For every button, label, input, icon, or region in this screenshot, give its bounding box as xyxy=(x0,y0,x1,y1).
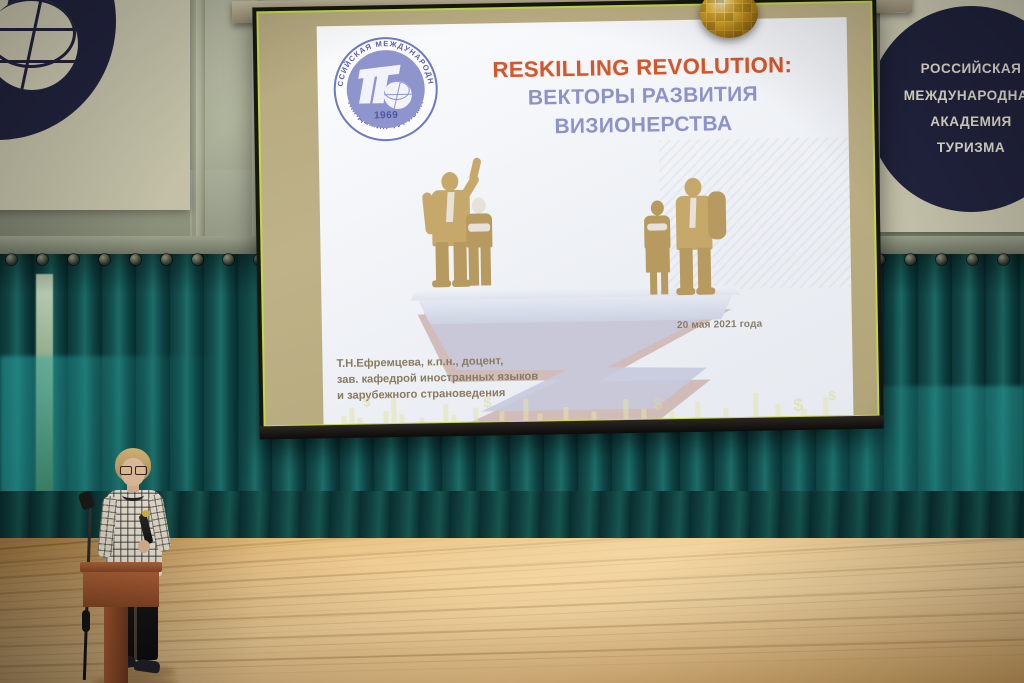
banner-right-circle: РОССИЙСКАЯ МЕЖДУНАРОДНАЯ АКАДЕМИЯ ТУРИЗМ… xyxy=(880,6,1024,212)
banner-line-4: ТУРИЗМА xyxy=(937,135,1005,161)
slide-silhouette-group-right xyxy=(317,17,847,26)
slide-subtitle-2: ВИЗИОНЕРСТВА xyxy=(448,110,838,141)
mirror-ball-facet xyxy=(752,22,758,30)
mirror-ball-facet xyxy=(725,31,733,38)
mirror-ball-facet xyxy=(700,4,706,12)
slide-dollar-icon: $ xyxy=(828,387,836,403)
mirror-ball-facet xyxy=(752,0,758,3)
globe-icon xyxy=(0,0,78,90)
slide-chart-bar xyxy=(473,408,478,424)
mirror-ball-facet xyxy=(700,22,706,30)
mirror-ball-facet xyxy=(734,22,742,30)
mirror-ball-facet xyxy=(707,31,715,38)
curtain-grommet xyxy=(936,254,947,265)
mirror-ball-facet xyxy=(707,0,715,3)
slide-chart-bar xyxy=(523,399,528,423)
mirror-ball-facet xyxy=(725,13,733,21)
curtain-grommet xyxy=(6,254,17,265)
slide-money-graphics: $$$$$ xyxy=(323,357,854,425)
wall-pilaster xyxy=(196,0,205,250)
slide-chart-bar xyxy=(623,399,628,421)
slide-dollar-icon: $ xyxy=(793,395,803,416)
mirror-ball-facet xyxy=(734,4,742,12)
slide-title: RESKILLING REVOLUTION: xyxy=(447,51,837,84)
slide-logo: РОССИЙСКАЯ МЕЖДУНАРОДНАЯ АКАДЕМИЯ ТУРИЗМ… xyxy=(333,36,439,142)
mirror-ball-facet xyxy=(716,4,724,12)
slide: РОССИЙСКАЯ МЕЖДУНАРОДНАЯ АКАДЕМИЯ ТУРИЗМ… xyxy=(317,17,854,425)
mirror-ball-facet xyxy=(743,13,751,21)
slide-chart-bar xyxy=(563,407,568,422)
mirror-ball-facet xyxy=(734,13,742,21)
curtain-grommet xyxy=(68,254,79,265)
mirror-ball-facet xyxy=(743,0,751,3)
screen-border: РОССИЙСКАЯ МЕЖДУНАРОДНАЯ АКАДЕМИЯ ТУРИЗМ… xyxy=(256,1,879,428)
screen-surface: РОССИЙСКАЯ МЕЖДУНАРОДНАЯ АКАДЕМИЯ ТУРИЗМ… xyxy=(258,3,877,426)
curtain-grommet xyxy=(192,254,203,265)
banner-left xyxy=(0,0,190,210)
mirror-ball-facet xyxy=(725,4,733,12)
slide-chart-bar xyxy=(695,402,700,420)
lectern xyxy=(80,562,162,682)
mirror-ball-facet xyxy=(707,13,715,21)
mirror-ball-facet xyxy=(734,31,742,38)
slide-chart-bar xyxy=(391,399,396,425)
slide-chart-bar xyxy=(753,393,758,419)
banner-left-circle xyxy=(0,0,116,140)
slide-dollar-icon: $ xyxy=(483,394,492,411)
mirror-ball-facet xyxy=(734,0,742,3)
banner-right: РОССИЙСКАЯ МЕЖДУНАРОДНАЯ АКАДЕМИЯ ТУРИЗМ… xyxy=(880,0,1024,232)
eyeglasses-icon xyxy=(120,466,146,473)
curtain-grommet xyxy=(998,254,1009,265)
mirror-ball-facet xyxy=(725,0,733,3)
curtain-grommet xyxy=(37,254,48,265)
presenter-necklace xyxy=(122,489,144,501)
mirror-ball-facet xyxy=(725,22,733,30)
slide-silhouette-group-left xyxy=(317,17,847,26)
slide-dollar-icon: $ xyxy=(363,394,370,409)
mirror-ball-facet xyxy=(752,13,758,21)
mirror-ball-facet xyxy=(700,13,706,21)
mirror-ball-facet xyxy=(743,22,751,30)
mirror-ball-facet xyxy=(716,22,724,30)
slide-chart-bar xyxy=(443,404,448,424)
banner-line-3: АКАДЕМИЯ xyxy=(930,109,1012,135)
mirror-ball-facet xyxy=(716,31,724,38)
photo-scene: РОССИЙСКАЯ МЕЖДУНАРОДНАЯ АКАДЕМИЯ ТУРИЗМ… xyxy=(0,0,1024,683)
mirror-ball-facet xyxy=(743,4,751,12)
mirror-ball-facet xyxy=(700,0,706,3)
mirror-ball-facet xyxy=(752,31,758,38)
curtain-grommet xyxy=(905,254,916,265)
mirror-ball-facet xyxy=(700,31,706,38)
curtain-grommet xyxy=(99,254,110,265)
curtain-grommet xyxy=(161,254,172,265)
slide-chart-bar xyxy=(775,404,780,418)
mirror-ball-facet xyxy=(716,13,724,21)
slide-subtitle-1: ВЕКТОРЫ РАЗВИТИЯ xyxy=(448,81,838,112)
mirror-ball-facet xyxy=(707,22,715,30)
curtain-grommet xyxy=(967,254,978,265)
mirror-ball-facet xyxy=(752,4,758,12)
slide-chart-bar xyxy=(349,408,354,426)
slide-chart-bar xyxy=(383,411,388,425)
mirror-ball-facet xyxy=(716,0,724,3)
slide-date: 20 мая 2021 года xyxy=(677,319,763,331)
logo-year: 1969 xyxy=(334,109,438,122)
slide-dollar-icon: $ xyxy=(653,394,663,414)
banner-line-1: РОССИЙСКАЯ xyxy=(921,56,1022,82)
curtain-grommet xyxy=(130,254,141,265)
mirror-ball-facet xyxy=(707,4,715,12)
curtain-grommet xyxy=(223,254,234,265)
projection-screen: РОССИЙСКАЯ МЕЖДУНАРОДНАЯ АКАДЕМИЯ ТУРИЗМ… xyxy=(252,0,883,439)
mirror-ball-facet xyxy=(743,31,751,38)
banner-line-2: МЕЖДУНАРОДНАЯ xyxy=(904,83,1024,109)
mirror-ball xyxy=(700,0,758,38)
slide-chart-bar xyxy=(341,416,346,425)
